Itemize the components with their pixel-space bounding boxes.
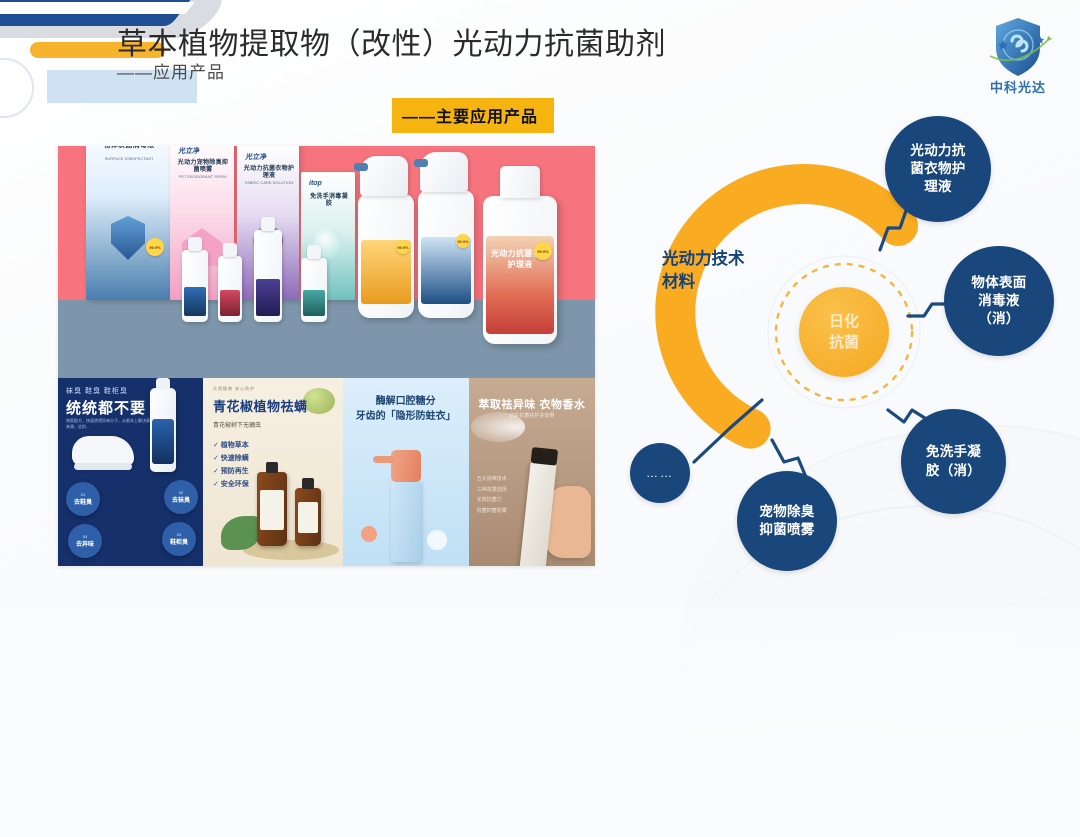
node-hand-gel[interactable]: 免洗手凝胶（消）: [901, 409, 1006, 514]
feature-item: ✓ 安全环保: [213, 479, 249, 492]
bottle-cap-icon: [188, 237, 202, 251]
bottle-label: [260, 490, 284, 530]
feature-bubble: 03去异味: [68, 524, 102, 558]
panel-feature-list: 五大祛味技术 三种花香选择 长效抗菌力 抗菌抑菌防霉: [477, 474, 507, 516]
bottle-cap-icon: [391, 450, 421, 482]
photo-top-scene: itop 物体表面消毒液 SURFACE DISINFECTANT 99.9% …: [58, 146, 595, 378]
product-box-surface-disinfectant: itop 物体表面消毒液 SURFACE DISINFECTANT 99.9%: [86, 146, 170, 300]
panel-tag: 袜臭 鞋臭 鞋柜臭: [66, 386, 128, 396]
bubble-text: 去袜臭: [172, 495, 190, 504]
box-sub: PET DEODORANT SPRAY: [176, 174, 230, 179]
spray-badge: 99.9%: [396, 240, 410, 254]
mini-bottle: [182, 250, 208, 322]
feature-item: ✓ 植物草本: [213, 440, 249, 453]
panel-fabric-perfume: 萃取祛异味 衣物香水 亿彩抗菌祛护多效果 五大祛味技术 三种花香选择 长效抗菌力…: [469, 378, 595, 566]
panel-headline: 青花椒植物祛螨: [213, 396, 308, 415]
bottle-label: [256, 279, 280, 316]
box-sub: FABRIC CARE SOLUTION: [243, 180, 295, 185]
box-brand: itop: [309, 180, 322, 187]
node-more[interactable]: ……: [630, 443, 690, 503]
shield-logo-icon: [970, 12, 1066, 82]
decorative-bubble-icon: [427, 530, 447, 550]
bubble-text: 鞋柜臭: [170, 537, 188, 546]
bubble-number: 01: [81, 492, 85, 497]
slide-root: 草本植物提取物（改性）光动力抗菌助剂 ——应用产品 ——主要应用产品 中科光达: [0, 0, 1080, 607]
bottle-cap-icon: [261, 217, 275, 231]
feature-bubble: 02去袜臭: [164, 480, 198, 514]
box-label: 免洗手消毒凝胶: [307, 194, 351, 207]
logo-text: 中科光达: [970, 77, 1066, 96]
panel-mite-removal: 天然植物 安心防护 青花椒植物祛螨 青花椒树下无蛹虫 ✓ 植物草本 ✓ 快速除螨…: [203, 378, 343, 566]
page-title: 草本植物提取物（改性）光动力抗菌助剂: [117, 19, 666, 63]
nozzle-icon: [414, 159, 428, 167]
bottle-label: [303, 290, 325, 316]
mist-spray-icon: [471, 412, 525, 442]
bottle-cap-icon: [531, 447, 559, 466]
panel-oral-spray: 酶解口腔糖分牙齿的「隐形防蛀衣」: [343, 378, 469, 566]
bottle-label: [298, 502, 318, 533]
deco-ring-icon: [0, 58, 34, 118]
panel-feature-list: ✓ 植物草本 ✓ 快速除螨 ✓ 预防再生 ✓ 安全环保: [213, 440, 249, 492]
trigger-icon: [420, 152, 468, 192]
spray-bottle-blue: 99.9%: [418, 190, 474, 318]
feature-item: 长效抗菌力: [477, 495, 507, 506]
box-label: 物体表面消毒液: [92, 146, 166, 150]
diagram-center-node: 日化抗菌: [799, 287, 889, 377]
bottle-label: [220, 290, 240, 316]
bottle-cap-icon: [223, 243, 237, 257]
panel-headline: 酶解口腔糖分牙齿的「隐形防蛀衣」: [343, 394, 469, 424]
photo-bottom-panels: 袜臭 鞋臭 鞋柜臭 统统都不要 独家配方，快速渗透异味分子，从根本上解决臭味来源…: [58, 378, 595, 566]
bottle-label: [184, 287, 206, 316]
panel-headline: 统统都不要: [66, 397, 146, 418]
oral-spray-bottle: [391, 480, 421, 562]
decorative-ball-icon: [361, 526, 377, 542]
deco-navy-bar-icon: [0, 0, 209, 14]
shield-box-icon: [111, 216, 145, 260]
feature-item: 三种花香选择: [477, 485, 507, 496]
bubble-text: 去异味: [76, 539, 94, 548]
product-photo-collage: itop 物体表面消毒液 SURFACE DISINFECTANT 99.9% …: [58, 146, 595, 566]
nozzle-icon: [354, 163, 368, 171]
bubble-number: 02: [179, 490, 183, 495]
bottle-badge: 99.9%: [534, 242, 552, 260]
box-label: 光动力宠物除臭抑菌喷雾: [176, 160, 230, 173]
panel-sub: 青花椒树下无蛹虫: [213, 420, 261, 429]
page-subtitle: ——应用产品: [117, 58, 225, 83]
feature-bubble: 01去鞋臭: [66, 482, 100, 516]
panel-shoe-deodorant: 袜臭 鞋臭 鞋柜臭 统统都不要 独家配方，快速渗透异味分子，从根本上解决臭味来源…: [58, 378, 203, 566]
trigger-icon: [360, 156, 408, 196]
feature-item: ✓ 快速除螨: [213, 453, 249, 466]
box-sub: SURFACE DISINFECTANT: [92, 156, 166, 161]
box-badge: 99.9%: [146, 238, 164, 256]
box-label: 光动力抗菌衣物护理液: [243, 166, 295, 179]
application-diagram: 光动力技术材料 日化抗菌 光动力抗菌衣物护理液 物体表面消毒液（消） 免洗手凝胶…: [612, 110, 1080, 580]
mini-bottle: [218, 256, 242, 322]
big-bottle-fabric-care: 光动力抗菌衣物护理液 99.9%: [483, 196, 557, 344]
feature-item: ✓ 预防再生: [213, 466, 249, 479]
panel-tag: 天然植物 安心防护: [213, 386, 255, 392]
amber-spray-bottle: [257, 472, 287, 546]
mini-bottle: [254, 230, 282, 322]
company-logo: 中科光达: [970, 12, 1066, 98]
box-brand: 光立净: [178, 146, 199, 156]
bottle-cap-icon: [500, 166, 540, 198]
bubble-number: 03: [83, 534, 87, 539]
panel-headline: 萃取祛异味 衣物香水: [469, 396, 595, 412]
feature-item: 五大祛味技术: [477, 474, 507, 485]
feature-bubble: 04鞋柜臭: [162, 522, 196, 556]
bottle-cap-icon: [156, 378, 170, 390]
shoe-icon: [72, 436, 134, 466]
bottle-label: [152, 419, 174, 464]
bubble-number: 04: [177, 532, 181, 537]
feature-item: 抗菌抑菌防霉: [477, 506, 507, 517]
deodorant-bottle: [150, 388, 176, 472]
amber-bottle: [295, 488, 321, 546]
nozzle-icon: [266, 462, 278, 473]
node-surface-disinfectant[interactable]: 物体表面消毒液（消）: [944, 246, 1054, 356]
bottle-cap-icon: [307, 245, 321, 259]
box-brand: 光立净: [245, 152, 266, 162]
spray-bottle-yellow: 99.9%: [358, 194, 414, 318]
node-fabric-care[interactable]: 光动力抗菌衣物护理液: [885, 116, 991, 222]
spray-arm-icon: [373, 456, 395, 463]
bottle-cap-icon: [302, 478, 314, 489]
section-banner: ——主要应用产品: [392, 98, 554, 133]
deco-white-stripe-icon: [0, 2, 195, 14]
bubble-text: 去鞋臭: [74, 497, 92, 506]
node-pet-spray[interactable]: 宠物除臭抑菌喷雾: [737, 471, 837, 571]
panel-note: 独家配方，快速渗透异味分子，从根本上解决臭味来源，告别…: [66, 418, 156, 430]
diagram-ring-label: 光动力技术材料: [662, 248, 792, 294]
mini-bottle: [301, 258, 327, 322]
spray-badge: 99.9%: [456, 234, 470, 248]
